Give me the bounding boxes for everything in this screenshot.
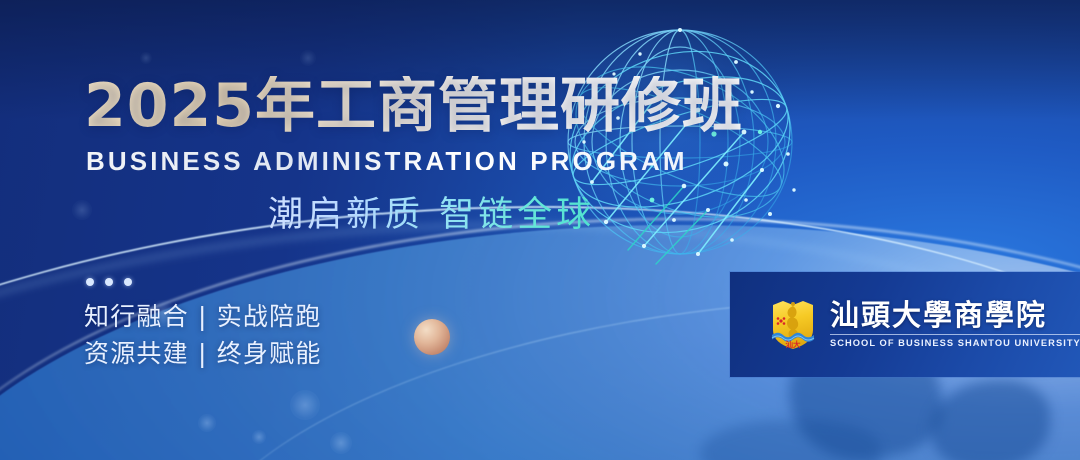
bokeh-particle [198, 414, 216, 432]
bokeh-particle [300, 50, 316, 66]
small-tan-planet [414, 319, 450, 355]
university-logo-panel[interactable]: 汕大 汕頭大學商學院 SCHOOL OF BUSINESS SHANTOU UN… [730, 272, 1080, 377]
bokeh-particle [252, 430, 266, 444]
university-name-cn: 汕頭大學商學院 [830, 301, 1080, 330]
banner-root: 2025年工商管理研修班 BUSINESS ADMINISTRATION PRO… [0, 0, 1080, 460]
bullet-dots [86, 278, 132, 286]
bokeh-particle [72, 200, 92, 220]
university-logo-text: 汕頭大學商學院 SCHOOL OF BUSINESS SHANTOU UNIVE… [830, 301, 1080, 348]
page-subtitle-english: BUSINESS ADMINISTRATION PROGRAM [86, 146, 688, 177]
page-title: 2025年工商管理研修班 [84, 76, 743, 136]
bullet-dot-icon [124, 278, 132, 286]
slogan: 潮启新质 智链全球 [268, 186, 595, 237]
bokeh-particle [330, 432, 352, 454]
university-name-en: SCHOOL OF BUSINESS SHANTOU UNIVERSITY [830, 338, 1080, 348]
tagline-line-2: 资源共建 | 终身赋能 [84, 335, 322, 372]
logo-divider [830, 334, 1080, 335]
bokeh-particle [290, 390, 320, 420]
tagline: 知行融合 | 实战陪跑 资源共建 | 终身赋能 [84, 298, 322, 372]
bullet-dot-icon [105, 278, 113, 286]
shantou-university-crest-icon: 汕大 [768, 297, 818, 353]
bokeh-particle [140, 52, 152, 64]
crest-motto: 汕大 [786, 339, 801, 349]
bullet-dot-icon [86, 278, 94, 286]
tagline-line-1: 知行融合 | 实战陪跑 [84, 298, 322, 335]
